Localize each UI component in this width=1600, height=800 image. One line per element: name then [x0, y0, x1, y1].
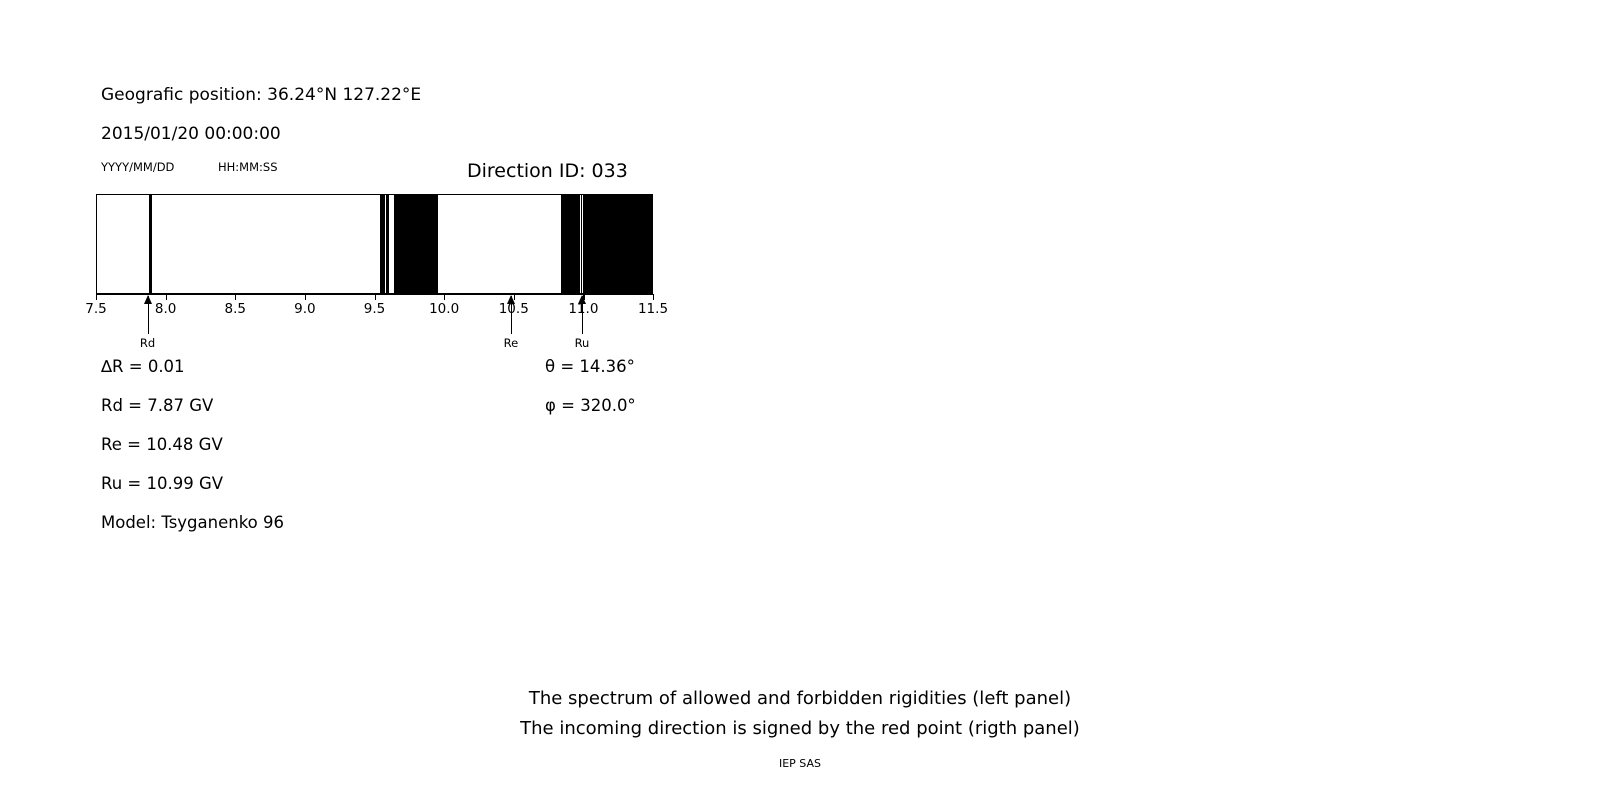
param-phi: φ = 320.0°	[545, 396, 636, 415]
marker-label: Rd	[140, 336, 155, 350]
forbidden-band	[149, 195, 152, 293]
rigidity-tick	[166, 294, 167, 300]
arrow-up-icon	[507, 295, 515, 304]
rigidity-tick	[375, 294, 376, 300]
rigidity-tick-label: 7.5	[85, 301, 106, 317]
rigidity-tick-label: 11.5	[638, 301, 668, 317]
param-rd: Rd = 7.87 GV	[101, 396, 213, 415]
forbidden-band	[561, 195, 579, 293]
rigidity-tick-label: 9.0	[294, 301, 315, 317]
arrow-up-icon	[144, 295, 152, 304]
caption-line-2: The incoming direction is signed by the …	[0, 718, 1600, 739]
marker-label: Re	[504, 336, 519, 350]
time-format-hint: HH:MM:SS	[218, 160, 278, 174]
arrow-up-icon	[578, 295, 586, 304]
footer-credit: IEP SAS	[0, 757, 1600, 770]
rigidity-tick	[653, 294, 654, 300]
forbidden-band	[583, 195, 653, 293]
asymptotic-direction-panel: N S E W 1.000.750.500.250.00-0.25-0.50-0…	[790, 0, 1600, 660]
param-model: Model: Tsyganenko 96	[101, 513, 284, 532]
param-re: Re = 10.48 GV	[101, 435, 223, 454]
datetime-label: 2015/01/20 00:00:00	[101, 124, 281, 144]
rigidity-tick	[305, 294, 306, 300]
marker-label: Ru	[575, 336, 590, 350]
rigidity-spectrum-panel: Geografic position: 36.24°N 127.22°E 201…	[0, 0, 760, 660]
rigidity-axis: 7.58.08.59.09.510.010.511.011.5	[96, 294, 653, 295]
rigidity-tick	[96, 294, 97, 300]
geographic-position-label: Geografic position: 36.24°N 127.22°E	[101, 85, 421, 105]
caption-line-1: The spectrum of allowed and forbidden ri…	[0, 688, 1600, 709]
param-ru: Ru = 10.99 GV	[101, 474, 223, 493]
direction-id-label: Direction ID: 033	[467, 160, 628, 182]
forbidden-band	[386, 195, 389, 293]
forbidden-band	[581, 195, 583, 293]
rigidity-tick	[444, 294, 445, 300]
rigidity-spectrum-bar	[96, 194, 653, 294]
param-delta-r: ∆R = 0.01	[101, 357, 185, 376]
rigidity-tick-label: 8.5	[225, 301, 246, 317]
forbidden-band	[380, 195, 384, 293]
rigidity-tick-label: 9.5	[364, 301, 385, 317]
forbidden-band	[394, 195, 437, 293]
rigidity-tick-label: 8.0	[155, 301, 176, 317]
rigidity-tick	[235, 294, 236, 300]
date-format-hint: YYYY/MM/DD	[101, 160, 174, 174]
param-theta: θ = 14.36°	[545, 357, 635, 376]
rigidity-tick-label: 10.0	[429, 301, 459, 317]
